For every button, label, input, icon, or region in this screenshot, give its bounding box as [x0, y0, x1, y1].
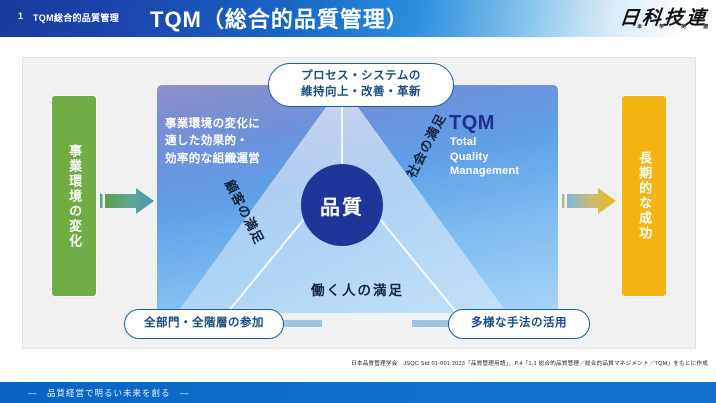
- logo-char-1: 日本: [619, 3, 644, 30]
- arrow-left-icon: [100, 186, 155, 216]
- header-section-number: 1: [18, 11, 24, 21]
- tqm-full-name: Total Quality Management: [450, 135, 519, 179]
- header-section-label: TQM総合的品質管理: [33, 11, 119, 24]
- nikkagiren-logo: 日本 科学 技術 連盟: [619, 6, 710, 30]
- tqm-abbreviation: TQM: [449, 112, 495, 135]
- connector-left: [282, 320, 322, 327]
- logo-char-3: 技術: [663, 3, 688, 30]
- source-citation: 日本品質管理学会 JSQC Std 01-001:2023「品質管理用語」、P.…: [0, 359, 708, 367]
- tqm-main-panel: 事業環境の変化に 適した効果的・ 効率的な組織運営 TQM Total Qual…: [157, 85, 558, 313]
- left-description: 事業環境の変化に 適した効果的・ 効率的な組織運営: [165, 116, 260, 168]
- quality-core-circle: 品質: [301, 164, 383, 246]
- callout-all-departments: 全部門・全階層の参加: [124, 309, 284, 339]
- output-box-long-term-success: 長期的な成功: [621, 95, 667, 297]
- page-title: TQM（総合的品質管理）: [150, 2, 409, 34]
- arrow-right-icon: [562, 186, 617, 216]
- bottom-bar: ― 品質経営で明るい未来を創る ―: [0, 382, 716, 403]
- bottom-bar-tagline: ― 品質経営で明るい未来を創る ―: [28, 387, 190, 399]
- callout-diverse-methods: 多様な手法の活用: [448, 309, 590, 339]
- callout-process-system: プロセス・システムの 維持向上・改善・革新: [268, 63, 454, 107]
- satisfaction-workers-label: 働く人の満足: [157, 279, 558, 299]
- input-box-business-environment: 事業環境の変化: [51, 95, 97, 297]
- page-header: 1 TQM総合的品質管理 TQM（総合的品質管理） 日本 科学 技術 連盟: [0, 0, 716, 37]
- logo-char-4: 連盟: [685, 3, 710, 30]
- logo-char-2: 科学: [641, 3, 666, 30]
- connector-right: [412, 320, 452, 327]
